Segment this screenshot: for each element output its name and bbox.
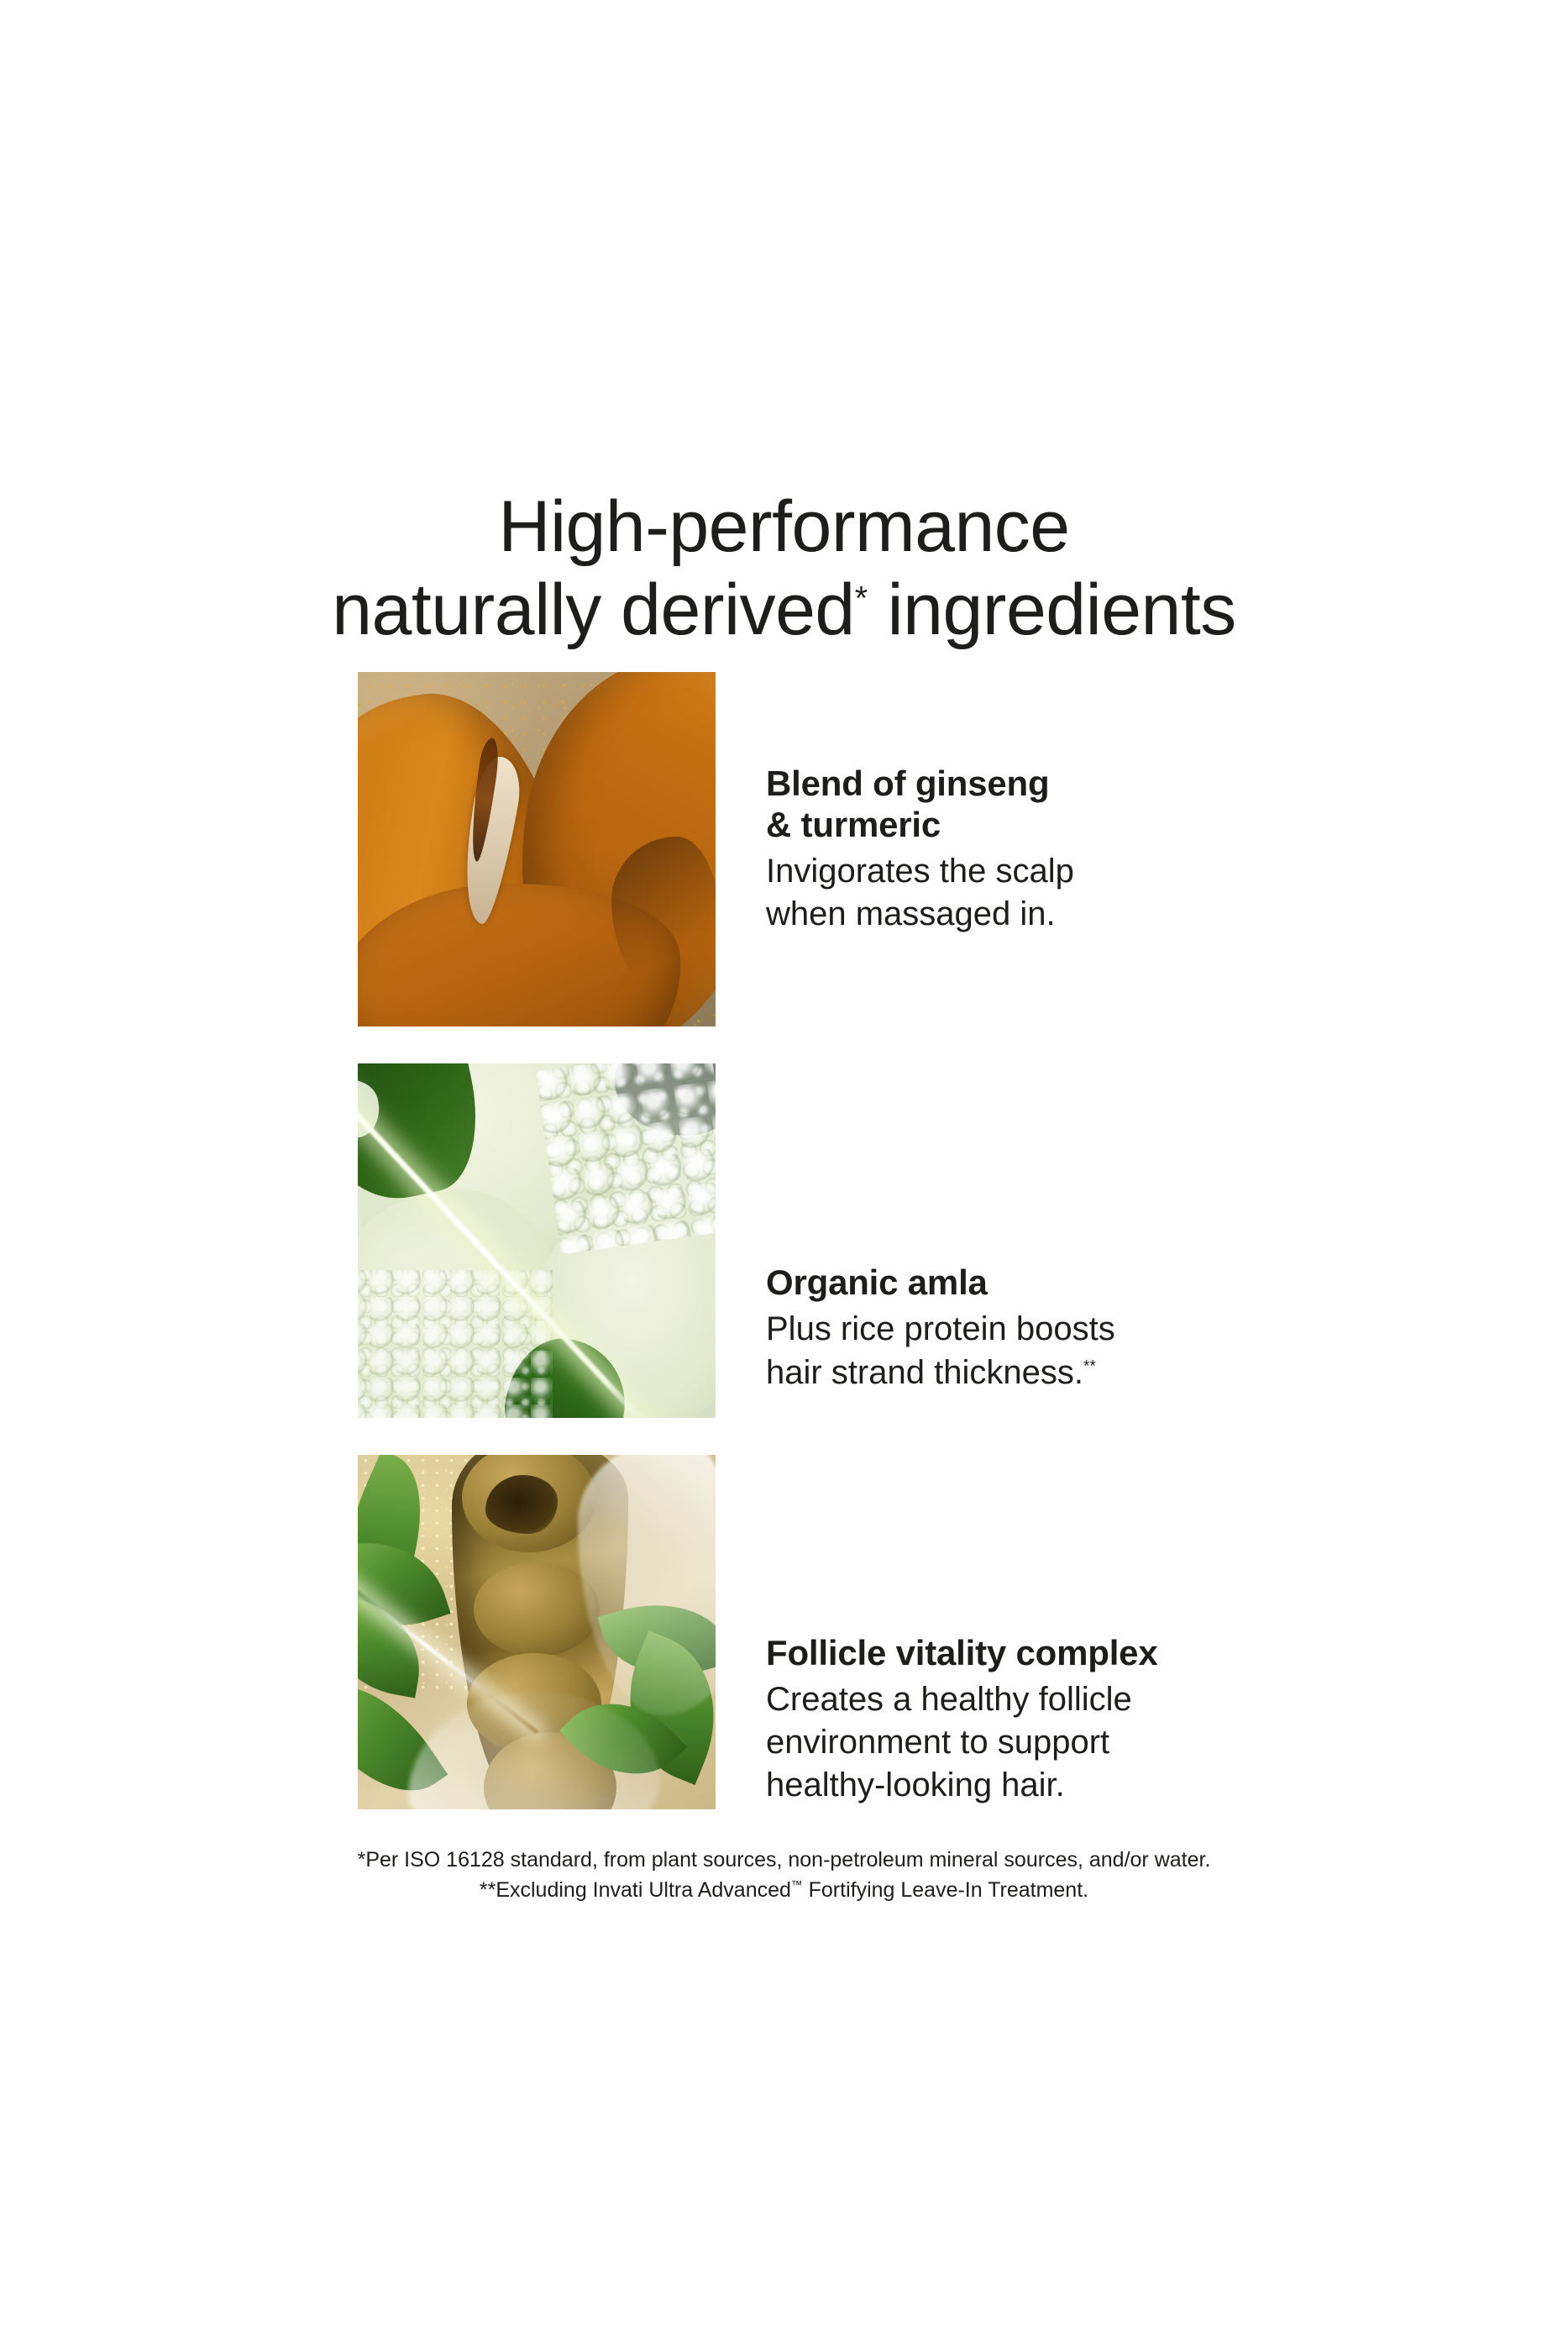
- ingredient-copy: Follicle vitality complex Creates a heal…: [766, 1455, 1354, 1897]
- footnote-line-2: **Excluding Invati Ultra Advanced™ Forti…: [0, 1875, 1568, 1905]
- ingredient-description-text: Creates a healthy follicle environment t…: [766, 1681, 1132, 1803]
- amla-artwork: [358, 1063, 716, 1418]
- bubbles-top-right: [536, 1063, 716, 1255]
- ingredient-title: Organic amla: [766, 1262, 1354, 1303]
- trademark-symbol: ™: [791, 1879, 803, 1892]
- page-title: High-performance naturally derived* ingr…: [0, 486, 1568, 654]
- ingredient-title: Follicle vitality complex: [766, 1632, 1354, 1673]
- ingredient-description: Plus rice protein boosts hair strand thi…: [766, 1308, 1354, 1394]
- ingredient-list: Blend of ginseng & turmeric Invigorates …: [358, 672, 1366, 1846]
- ingredient-description-text: Plus rice protein boosts hair strand thi…: [766, 1310, 1115, 1390]
- ingredient-description-text: Invigorates the scalp when massaged in.: [766, 853, 1074, 932]
- ingredient-image-follicle: [358, 1455, 716, 1809]
- turmeric-artwork: [358, 672, 716, 1026]
- ingredient-image-amla: [358, 1063, 716, 1418]
- footnotes: *Per ISO 16128 standard, from plant sour…: [0, 1845, 1568, 1906]
- headline-line-2-tail: ingredients: [868, 570, 1236, 650]
- footnote-line-1: *Per ISO 16128 standard, from plant sour…: [0, 1845, 1568, 1875]
- ingredient-description: Invigorates the scalp when massaged in.: [766, 850, 1354, 936]
- ingredient-row: Organic amla Plus rice protein boosts ha…: [358, 1063, 1366, 1418]
- ingredient-footnote-marker: **: [1083, 1357, 1096, 1375]
- headline-line-1: High-performance: [0, 486, 1568, 570]
- footnote-line-2-text: **Excluding Invati Ultra Advanced: [480, 1878, 791, 1902]
- ingredient-image-turmeric: [358, 672, 716, 1026]
- headline-line-2-text: naturally derived: [332, 570, 855, 650]
- headline-line-2: naturally derived* ingredients: [0, 569, 1568, 653]
- footnote-line-2-tail: Fortifying Leave-In Treatment.: [803, 1878, 1088, 1902]
- ingredient-title: Blend of ginseng & turmeric: [766, 763, 1354, 845]
- ingredient-row: Blend of ginseng & turmeric Invigorates …: [358, 672, 1366, 1026]
- ginseng-artwork: [358, 1455, 716, 1809]
- ingredient-description: Creates a healthy follicle environment t…: [766, 1678, 1354, 1808]
- ingredient-row: Follicle vitality complex Creates a heal…: [358, 1455, 1366, 1809]
- headline-footnote-marker: *: [855, 580, 868, 617]
- ingredient-copy: Blend of ginseng & turmeric Invigorates …: [766, 672, 1354, 1026]
- ingredient-copy: Organic amla Plus rice protein boosts ha…: [766, 1063, 1354, 1505]
- ingredients-panel: High-performance naturally derived* ingr…: [0, 0, 1568, 2352]
